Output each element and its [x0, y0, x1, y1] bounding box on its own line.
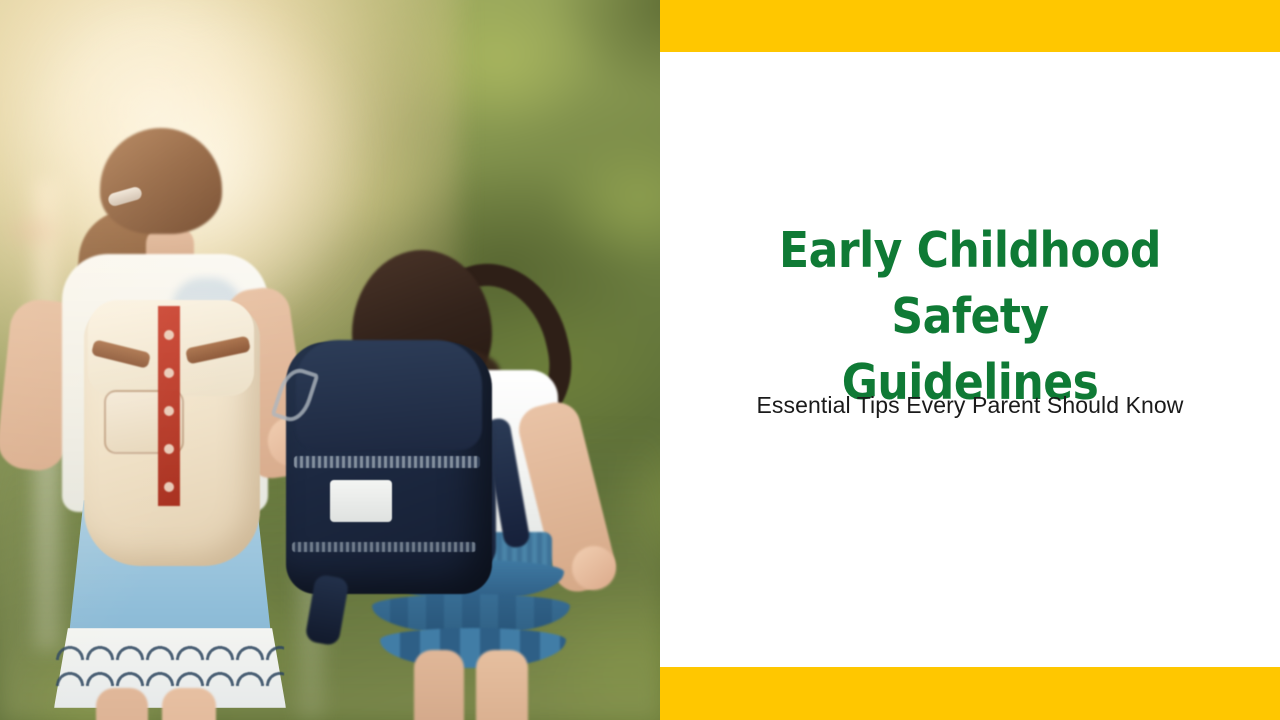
girl-left-skirt-wave-2 [56, 670, 284, 686]
hero-photo [0, 0, 660, 720]
girl-left-backpack-red-strap [158, 306, 180, 506]
girl-right-backpack-zipper-bottom [292, 542, 476, 552]
girl-left-skirt-wave-1 [56, 644, 284, 660]
strap-stud [164, 368, 174, 378]
top-accent-bar [660, 0, 1280, 52]
page-title-line-1: Early Childhood Safety [779, 222, 1161, 345]
girl-right-skirt-ruffle-3 [380, 628, 566, 668]
strap-stud [164, 330, 174, 340]
girl-left-hair [100, 128, 222, 234]
content-panel: Early Childhood Safety Guidelines Essent… [660, 0, 1280, 720]
girl-right-backpack-zipper-top [294, 456, 480, 468]
page-subtitle: Essential Tips Every Parent Should Know [690, 388, 1250, 422]
photo-stage [0, 0, 660, 720]
girl-left-leg-left [96, 688, 148, 720]
girl-right-leg-right [476, 650, 528, 720]
strap-stud [164, 406, 174, 416]
girl-right-figure [280, 250, 610, 720]
girl-right-backpack-lid [296, 340, 482, 450]
page-title: Early Childhood Safety Guidelines [718, 218, 1222, 416]
girl-right-leg-left [414, 650, 464, 720]
strap-stud [164, 444, 174, 454]
strap-stud [164, 482, 174, 492]
slide-canvas: Early Childhood Safety Guidelines Essent… [0, 0, 1280, 720]
girl-right-backpack-name-tag [330, 480, 392, 522]
girl-left-leg-right [162, 688, 216, 720]
girl-left-figure [22, 128, 322, 720]
bottom-accent-bar [660, 667, 1280, 720]
